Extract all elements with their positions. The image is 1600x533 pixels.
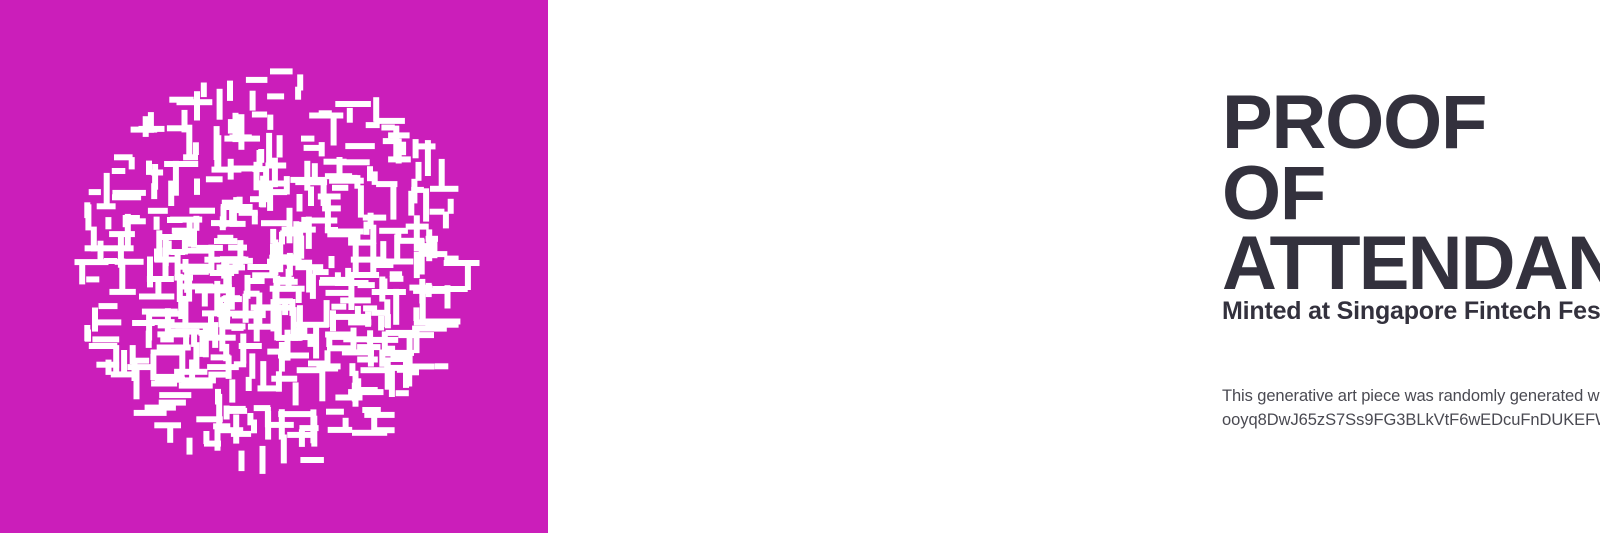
headline-line-3: ATTENDANCE [1222,229,1600,300]
headline-line-1: PROOF [1222,88,1600,159]
generative-art-panel [0,0,548,533]
page-title: PROOF OF ATTENDANCE [1222,88,1600,300]
event-subtitle: Minted at Singapore Fintech Festival 202… [1222,298,1600,326]
hash-value: ooyq8DwJ65zS7Ss9FG3BLkVtF6wEDcuFnDUKEFWP… [1222,409,1600,433]
generative-art-canvas [0,0,548,533]
headline-line-2: OF [1222,159,1600,230]
hash-description: This generative art piece was randomly g… [1222,385,1600,409]
proof-of-attendance-certificate: PROOF OF ATTENDANCE Minted at Singapore … [0,0,1600,533]
hash-block: This generative art piece was randomly g… [1222,385,1600,433]
certificate-info-panel: PROOF OF ATTENDANCE Minted at Singapore … [548,0,1600,533]
